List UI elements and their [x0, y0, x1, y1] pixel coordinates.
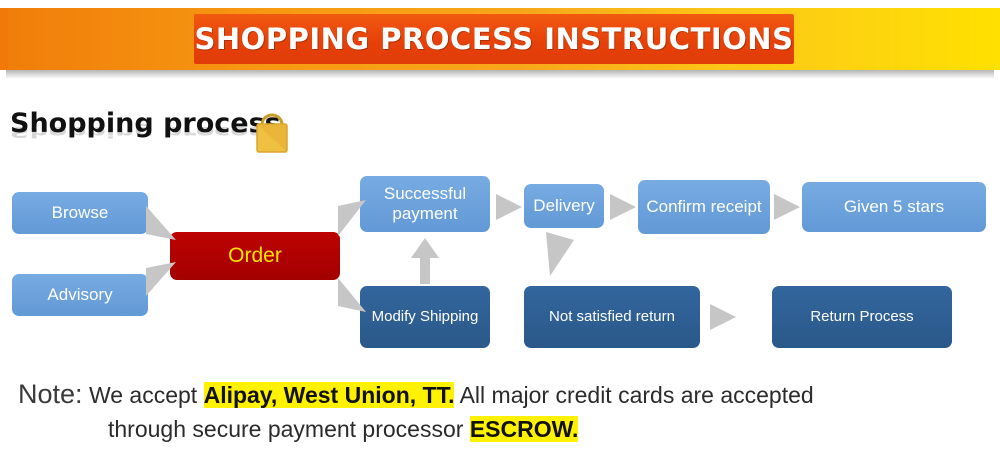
- note-line-2: through secure payment processor ESCROW.: [108, 414, 990, 445]
- header-banner: SHOPPING PROCESS INSTRUCTIONS: [0, 0, 1000, 82]
- flow-node-browse-label: Browse: [52, 203, 109, 223]
- section-heading: Shopping process: [10, 108, 281, 139]
- flow-node-not-satisfied-return[interactable]: Not satisfied return: [524, 286, 700, 348]
- flow-node-successful-payment-label: Successful payment: [366, 184, 484, 223]
- flow-node-return-process-label: Return Process: [810, 308, 913, 325]
- flow-node-advisory[interactable]: Advisory: [12, 274, 148, 316]
- note-text-after: All major credit cards are accepted: [460, 382, 814, 408]
- flow-node-confirm-receipt-label: Confirm receipt: [646, 197, 761, 217]
- arrow-successful-payment-to-delivery: [492, 190, 526, 224]
- note-text-before: We accept: [89, 382, 197, 408]
- banner-right-edge: [992, 8, 1000, 70]
- flow-node-confirm-receipt[interactable]: Confirm receipt: [638, 180, 770, 234]
- banner-left-edge: [0, 8, 8, 70]
- banner-title: SHOPPING PROCESS INSTRUCTIONS: [195, 22, 794, 56]
- note-label: Note:: [18, 379, 83, 409]
- shopping-bag-icon: [252, 112, 292, 154]
- arrow-advisory-to-order: [142, 248, 182, 308]
- arrow-confirm-receipt-to-given-5-stars: [770, 190, 804, 224]
- arrow-modify-shipping-to-successful-payment: [408, 236, 442, 286]
- banner-title-plate: SHOPPING PROCESS INSTRUCTIONS: [194, 14, 794, 64]
- flow-node-given-5-stars-label: Given 5 stars: [844, 197, 944, 217]
- note-line2-before: through secure payment processor: [108, 416, 463, 442]
- flow-node-modify-shipping[interactable]: Modify Shipping: [360, 286, 490, 348]
- note-highlight-payments: Alipay, West Union, TT.: [204, 382, 455, 408]
- arrow-delivery-to-confirm-receipt: [606, 190, 640, 224]
- note-highlight-escrow: ESCROW.: [470, 416, 579, 442]
- flow-node-return-process[interactable]: Return Process: [772, 286, 952, 348]
- flow-node-delivery[interactable]: Delivery: [524, 184, 604, 228]
- banner-drop-shadow: [6, 70, 994, 79]
- arrow-order-to-modify-shipping: [334, 264, 370, 334]
- flow-node-not-satisfied-return-label: Not satisfied return: [549, 308, 675, 325]
- flow-node-advisory-label: Advisory: [47, 285, 112, 305]
- flow-node-order[interactable]: Order: [170, 232, 340, 280]
- arrow-delivery-to-not-satisfied-return: [540, 228, 580, 284]
- arrow-not-satisfied-return-to-return-process: [706, 300, 740, 334]
- arrow-order-to-successful-payment: [334, 178, 370, 248]
- payment-note: Note: We accept Alipay, West Union, TT. …: [18, 376, 990, 445]
- flow-node-order-label: Order: [228, 244, 282, 268]
- flow-node-successful-payment[interactable]: Successful payment: [360, 176, 490, 232]
- flow-node-given-5-stars[interactable]: Given 5 stars: [802, 182, 986, 232]
- flow-node-delivery-label: Delivery: [533, 196, 594, 216]
- flow-node-modify-shipping-label: Modify Shipping: [372, 308, 479, 325]
- flow-node-browse[interactable]: Browse: [12, 192, 148, 234]
